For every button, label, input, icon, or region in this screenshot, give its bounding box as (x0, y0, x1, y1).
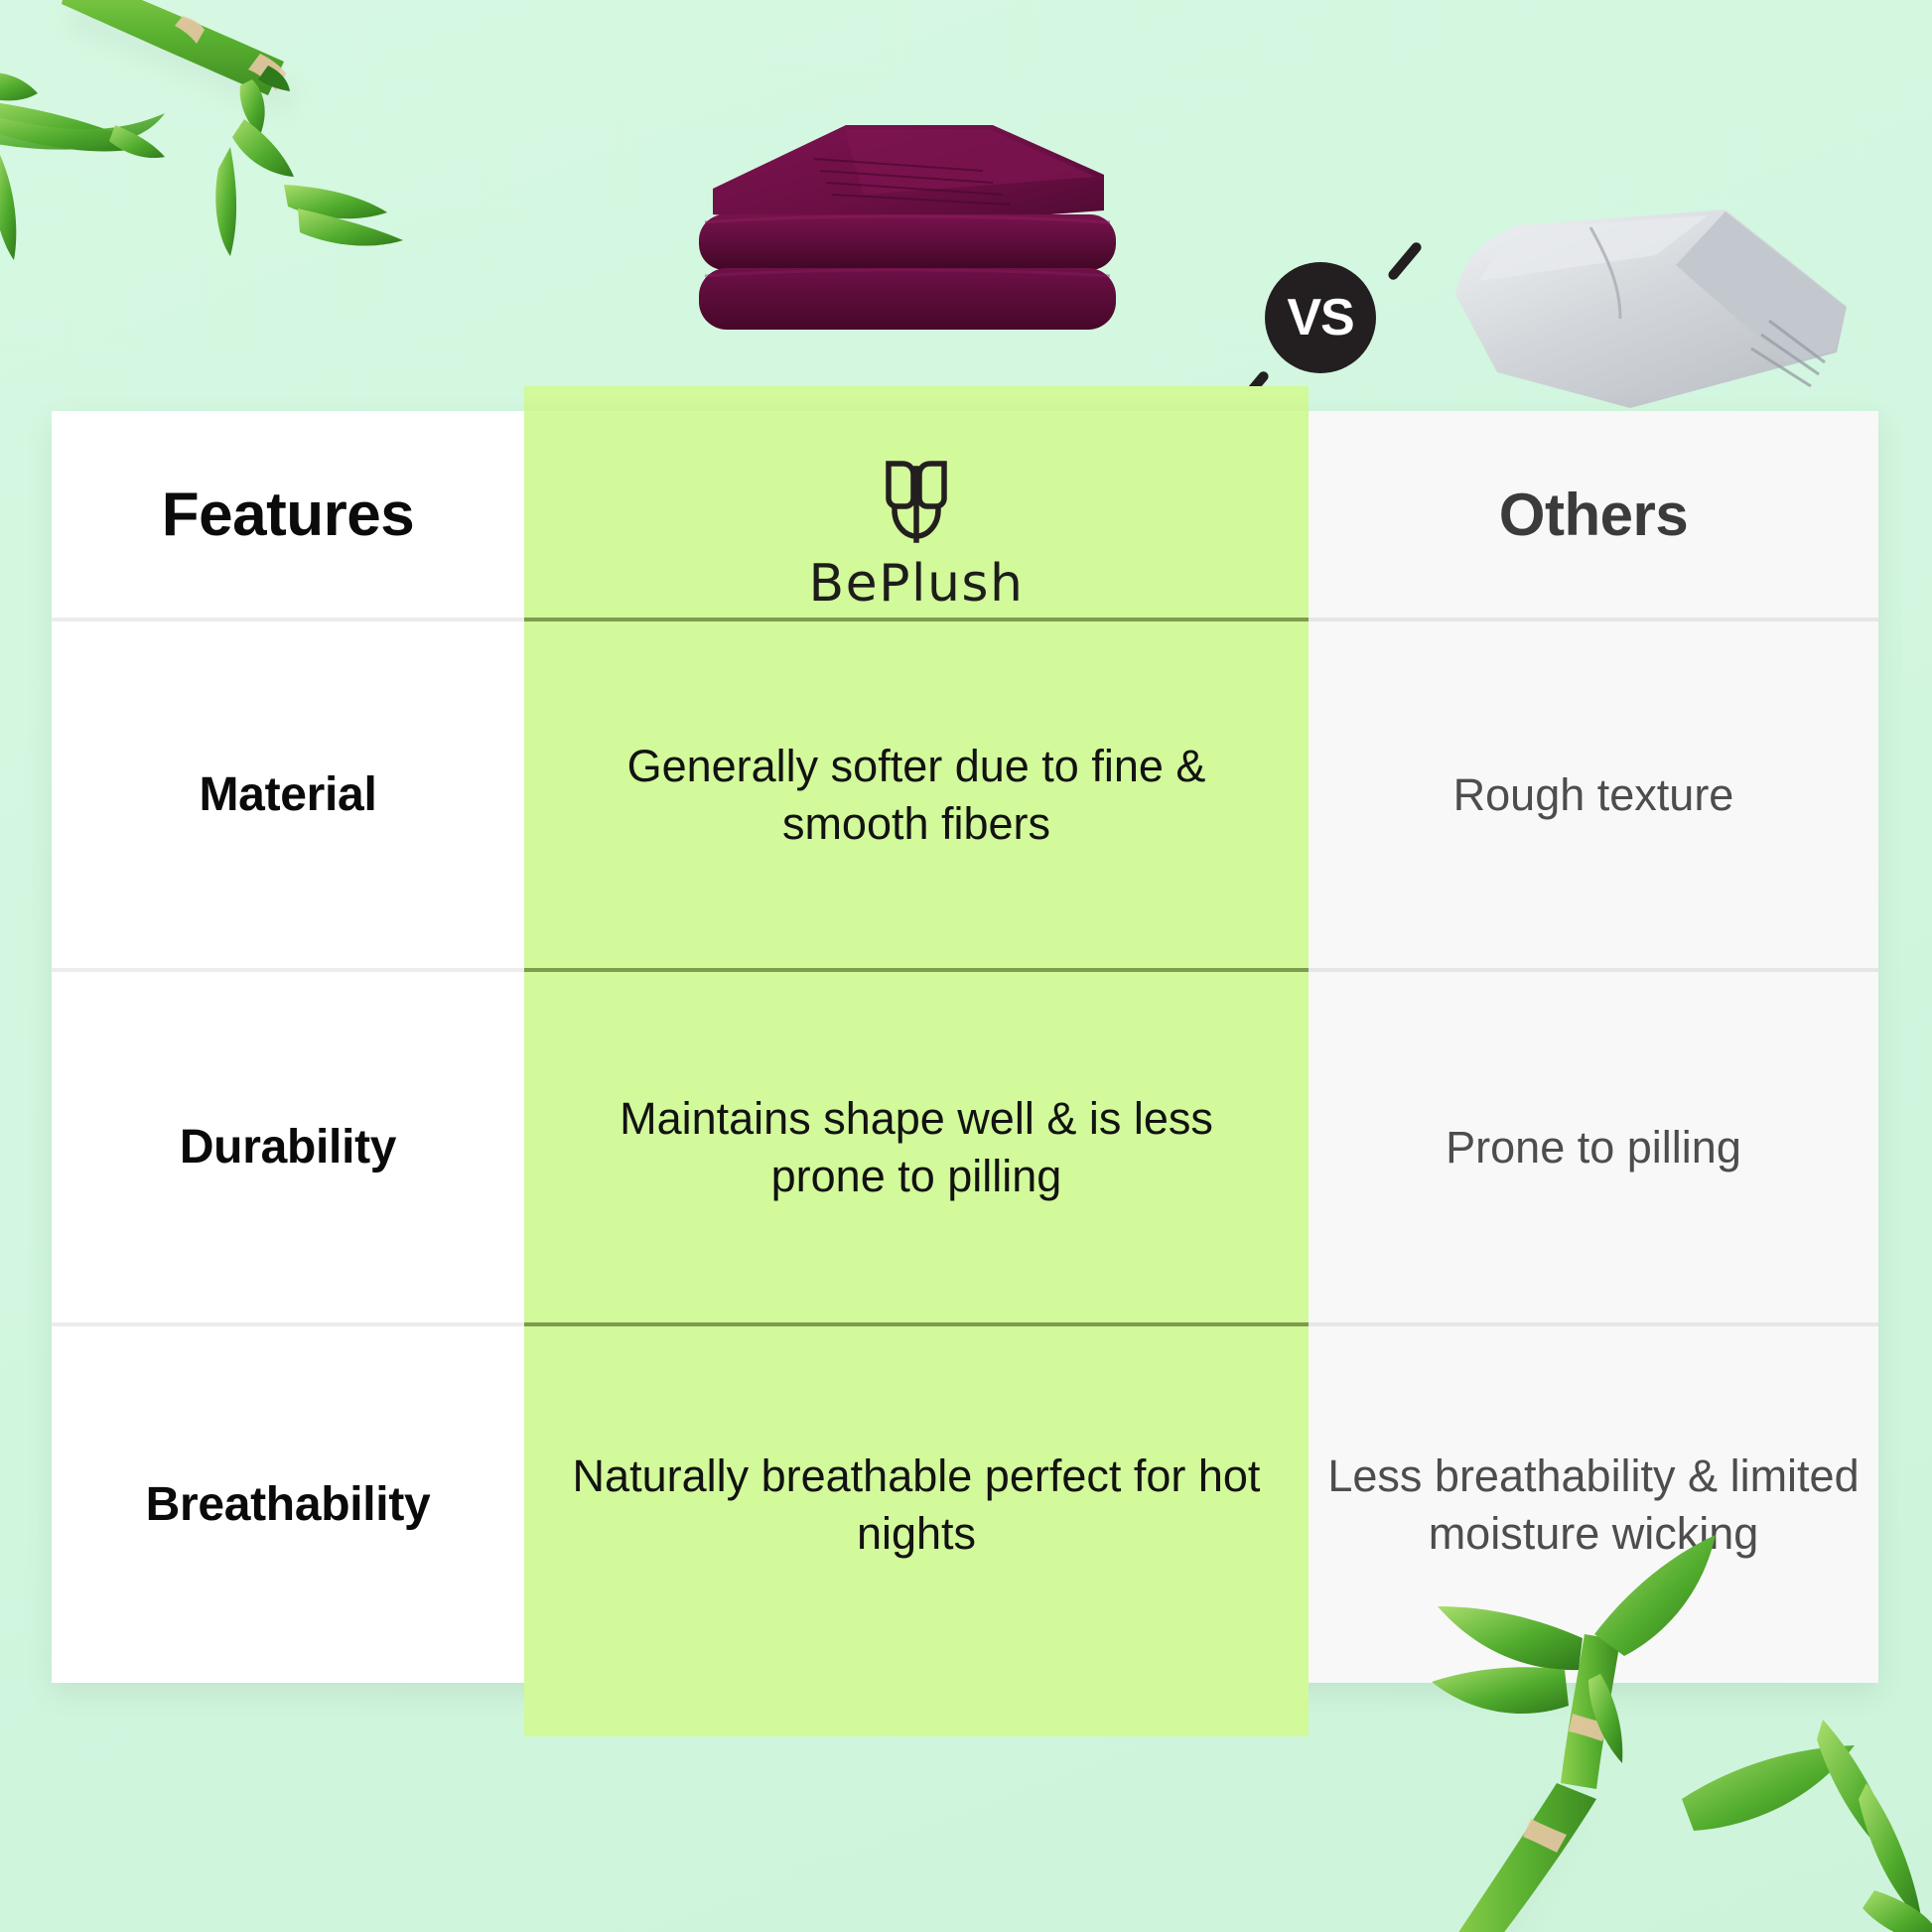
tulip-logo-icon (883, 459, 950, 544)
infographic-canvas: VS Fe (0, 0, 1932, 1932)
others-value: Rough texture (1436, 766, 1752, 824)
others-sheet-image (1442, 204, 1859, 432)
bamboo-top-left-icon (0, 0, 486, 318)
brand-name-label: BePlush (809, 554, 1025, 614)
header-cell-beplush: BePlush (524, 411, 1309, 618)
header-cell-features: Features (52, 411, 524, 618)
others-cell-material: Rough texture (1309, 618, 1878, 968)
vs-circle: VS (1265, 262, 1376, 373)
table-header-row: Features BePlush Others (52, 411, 1878, 618)
beplush-cell-durability: Maintains shape well & is less prone to … (524, 968, 1309, 1322)
others-value: Prone to pilling (1428, 1119, 1759, 1176)
feature-cell-breathability: Breathability (52, 1322, 524, 1683)
beplush-value: Generally softer due to fine & smooth fi… (524, 738, 1309, 852)
comparison-table: Features BePlush Others (52, 411, 1878, 1683)
vs-label: VS (1287, 292, 1353, 344)
header-cell-others: Others (1309, 411, 1878, 618)
beplush-value: Maintains shape well & is less prone to … (524, 1090, 1309, 1204)
brand-lockup: BePlush (809, 407, 1025, 621)
feature-cell-durability: Durability (52, 968, 524, 1322)
table-row: Durability Maintains shape well & is les… (52, 968, 1878, 1322)
feature-cell-material: Material (52, 618, 524, 968)
others-cell-durability: Prone to pilling (1309, 968, 1878, 1322)
others-cell-breathability: Less breathability & limited moisture wi… (1309, 1322, 1878, 1683)
beplush-column-tail (524, 1683, 1309, 1736)
table-row: Breathability Naturally breathable perfe… (52, 1322, 1878, 1683)
feature-label: Breathability (146, 1477, 431, 1532)
beplush-cell-material: Generally softer due to fine & smooth fi… (524, 618, 1309, 968)
beplush-sheet-image (695, 119, 1122, 347)
beplush-cell-breathability: Naturally breathable perfect for hot nig… (524, 1322, 1309, 1683)
feature-label: Durability (180, 1120, 396, 1174)
beplush-value: Naturally breathable perfect for hot nig… (524, 1448, 1309, 1562)
feature-label: Material (199, 767, 376, 822)
others-value: Less breathability & limited moisture wi… (1309, 1448, 1878, 1562)
vs-tick-top-right-icon (1386, 240, 1423, 282)
others-header-label: Others (1499, 481, 1688, 549)
features-header-label: Features (162, 480, 414, 550)
table-row: Material Generally softer due to fine & … (52, 618, 1878, 968)
